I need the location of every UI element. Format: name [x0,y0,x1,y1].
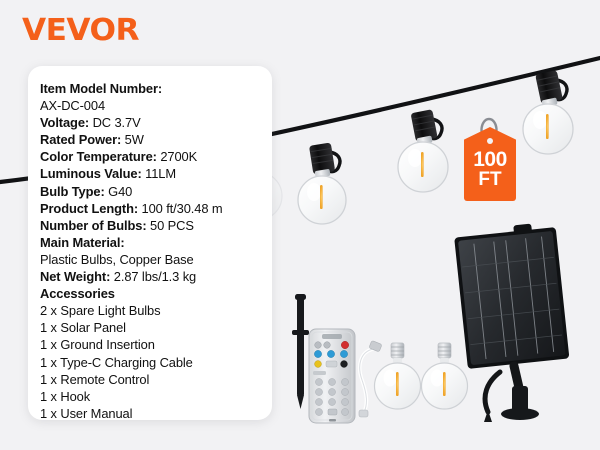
string-bulb-2 [398,109,448,192]
spare-bulb-2 [422,343,468,409]
spec-row: AX-DC-004 [40,97,272,114]
spec-row: Luminous Value: 11LM [40,165,272,182]
spec-label: Color Temperature: [40,149,157,164]
spec-row: Item Model Number: [40,80,272,97]
badge-hole [487,138,493,144]
accessory-item: 2 x Spare Light Bulbs [40,302,272,319]
accessory-item: 1 x User Manual [40,405,272,422]
spec-value: AX-DC-004 [40,98,105,113]
product-spec-infographic: VEVOR 100 FT Item Model Number:AX-DC-004… [0,0,600,450]
specification-card: Item Model Number:AX-DC-004Voltage: DC 3… [28,66,272,420]
string-bulb-1 [298,142,346,224]
badge-text: 100 FT [464,149,516,190]
spec-label: Main Material: [40,235,125,250]
ground-insertion-stake [292,294,309,409]
spec-value: 2.87 lbs/1.3 kg [110,269,196,284]
badge-value: 100 [464,149,516,170]
accessory-item: 1 x Hook [40,388,272,405]
spec-label: Number of Bulbs: [40,218,147,233]
spare-g40-bulbs [375,343,468,409]
spec-row: Number of Bulbs: 50 PCS [40,217,272,234]
spec-row: Plastic Bulbs, Copper Base [40,251,272,268]
brand-logo: VEVOR [22,16,139,46]
spec-row: Rated Power: 5W [40,131,272,148]
spec-label: Voltage: [40,115,89,130]
spec-row: Color Temperature: 2700K [40,148,272,165]
length-badge: 100 FT [464,127,516,201]
spec-value: 2700K [157,149,197,164]
badge-unit: FT [464,170,516,189]
spec-label: Net Weight: [40,269,110,284]
spec-value: 11LM [142,166,176,181]
remote-control [309,329,355,423]
spec-row: Accessories [40,285,272,302]
accessory-item: 1 x Type-C Charging Cable [40,354,272,371]
spec-value: 50 PCS [147,218,194,233]
spec-value: DC 3.7V [89,115,141,130]
spec-label: Bulb Type: [40,184,105,199]
spec-row: Main Material: [40,234,272,251]
spec-label: Accessories [40,286,115,301]
spec-row: Bulb Type: G40 [40,183,272,200]
spec-value: 5W [121,132,144,147]
spec-label: Rated Power: [40,132,121,147]
spec-value: G40 [105,184,133,199]
accessory-item: 1 x Solar Panel [40,319,272,336]
specification-list: Item Model Number:AX-DC-004Voltage: DC 3… [40,80,272,302]
spec-value: Plastic Bulbs, Copper Base [40,252,194,267]
accessory-item: 1 x Remote Control [40,371,272,388]
solar-panel [454,221,570,422]
spec-label: Item Model Number: [40,81,162,96]
spec-label: Luminous Value: [40,166,142,181]
spec-row: Net Weight: 2.87 lbs/1.3 kg [40,268,272,285]
spec-row: Product Length: 100 ft/30.48 m [40,200,272,217]
string-bulb-3 [523,70,573,154]
accessories-list: 2 x Spare Light Bulbs1 x Solar Panel1 x … [40,302,272,422]
accessory-item: 1 x Ground Insertion [40,336,272,353]
spec-row: Voltage: DC 3.7V [40,114,272,131]
spec-value: 100 ft/30.48 m [138,201,223,216]
spare-bulb-1 [375,343,421,409]
spec-label: Product Length: [40,201,138,216]
